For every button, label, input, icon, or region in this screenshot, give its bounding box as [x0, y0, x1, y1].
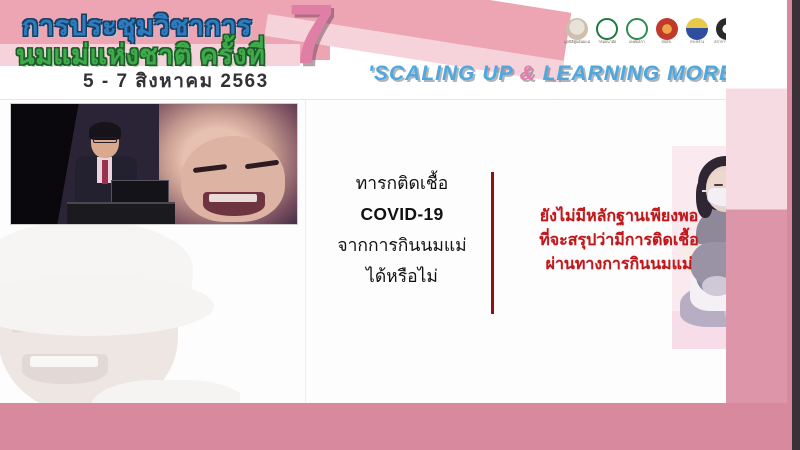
- podium-laptop: [111, 180, 169, 204]
- medical-council-logo: แพทยสภา: [625, 18, 649, 49]
- question-line-1: ทารกติดเชื้อ: [318, 168, 486, 199]
- answer-line-3: ผ่านทางการกินนมแม่: [500, 253, 738, 277]
- tagline-suffix: LEARNING MORE': [536, 62, 740, 85]
- question-line-4: ได้หรือไม่: [318, 261, 486, 292]
- answer-line-2: ที่จะสรุปว่ามีการติดเชื้อ: [500, 229, 738, 253]
- tagline-prefix: 'SCALING UP: [368, 62, 520, 85]
- conference-date: 5 - 7 สิงหาคม 2563: [83, 66, 269, 96]
- conference-edition-number: 7: [288, 0, 335, 76]
- player-bottom-bar: [0, 403, 792, 450]
- royal-emblem-logo: มูลนิธิศูนย์นมแม่: [565, 18, 589, 49]
- presentation-slide: การประชุมวิชาการ นมแม่แห่งชาติ ครั้งที่ …: [0, 0, 787, 403]
- answer-accent-rule: [491, 172, 494, 314]
- watermark-child-photo: [0, 218, 240, 403]
- slide-header-band: การประชุมวิชาการ นมแม่แห่งชาติ ครั้งที่ …: [0, 0, 787, 100]
- content-divider: [305, 100, 306, 403]
- podium: [67, 202, 175, 225]
- answer-text-block: ยังไม่มีหลักฐานเพียงพอ ที่จะสรุปว่ามีการ…: [500, 205, 738, 277]
- video-player-viewport: การประชุมวิชาการ นมแม่แห่งชาติ ครั้งที่ …: [0, 0, 800, 450]
- header-divider-rule: [0, 99, 787, 100]
- thai-garuda-logo: กระทรวง: [685, 18, 709, 49]
- tagline-ampersand: &: [520, 62, 536, 85]
- answer-line-1: ยังไม่มีหลักฐานเพียงพอ: [500, 205, 738, 229]
- question-text-block: ทารกติดเชื้อ COVID-19 จากการกินนมแม่ ได้…: [318, 168, 486, 292]
- viewer-right-border: [792, 0, 800, 450]
- nhso-logo: สปสช.: [655, 18, 679, 49]
- ministry-public-health-logo: กรมอนามัย: [595, 18, 619, 49]
- question-line-2: COVID-19: [318, 199, 486, 230]
- conference-tagline: 'SCALING UP & LEARNING MORE': [368, 62, 740, 86]
- projected-baby-photo: [159, 104, 298, 225]
- speaker-video-thumbnail[interactable]: [10, 103, 298, 225]
- question-line-3: จากการกินนมแม่: [318, 230, 486, 261]
- slide-right-gutter: [726, 0, 787, 403]
